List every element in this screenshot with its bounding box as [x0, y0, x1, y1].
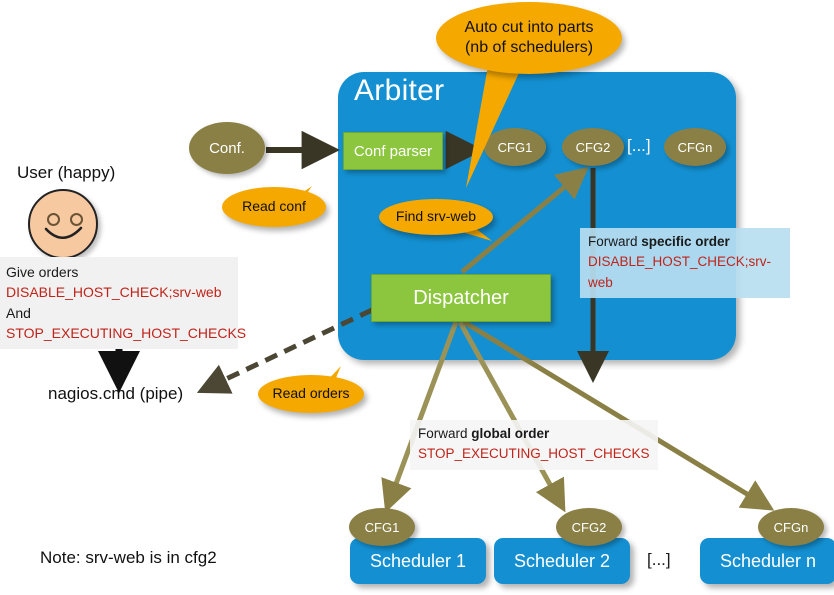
orders-conjunction: And: [6, 303, 232, 323]
callout-read-orders-line1: Read orders: [272, 385, 349, 402]
forward-global-prefix: Forward: [418, 426, 471, 441]
footer-note: Note: srv-web is in cfg2: [40, 548, 217, 568]
forward-global-command: STOP_EXECUTING_HOST_CHECKS: [418, 444, 650, 464]
cfg2-top-ellipse[interactable]: CFG2: [562, 128, 624, 166]
order-command-2: STOP_EXECUTING_HOST_CHECKS: [6, 323, 232, 343]
forward-global-emphasis: global order: [471, 426, 549, 441]
order-command-1: DISABLE_HOST_CHECK;srv-web: [6, 282, 232, 302]
orders-title: Give orders: [6, 262, 232, 282]
user-caption: User (happy): [17, 163, 115, 183]
nagios-cmd-pipe-label: nagios.cmd (pipe): [48, 384, 183, 404]
callout-read-conf: Read conf: [222, 187, 326, 227]
diagram-canvas: Arbiter: [0, 0, 834, 595]
callout-find-srv-web-line1: Find srv-web: [396, 208, 476, 225]
cfg1-scheduler-ellipse[interactable]: CFG1: [349, 508, 415, 546]
smile-icon: [28, 189, 98, 259]
callout-auto-cut-line1: Auto cut into parts: [465, 18, 594, 38]
scheduler-2-box[interactable]: Scheduler 2: [494, 538, 630, 584]
forward-global-heading: Forward global order: [418, 424, 650, 444]
forward-specific-heading: Forward specific order: [588, 232, 782, 252]
callout-auto-cut-line2: (nb of schedulers): [465, 38, 593, 58]
forward-specific-order-note: Forward specific order DISABLE_HOST_CHEC…: [580, 228, 790, 298]
config-ellipsis-label: [...]: [627, 136, 651, 156]
callout-read-orders: Read orders: [258, 375, 364, 413]
callout-read-conf-line1: Read conf: [242, 198, 306, 215]
scheduler-n-box[interactable]: Scheduler n: [700, 538, 834, 584]
forward-specific-emphasis: specific order: [641, 234, 730, 249]
conf-parser-box[interactable]: Conf parser: [343, 132, 443, 170]
cfgn-scheduler-ellipse[interactable]: CFGn: [758, 508, 824, 546]
arbiter-title: Arbiter: [354, 74, 444, 108]
cfgn-top-ellipse[interactable]: CFGn: [664, 128, 726, 166]
callout-find-srv-web: Find srv-web: [379, 199, 493, 235]
conf-source-ellipse[interactable]: Conf.: [189, 122, 265, 174]
scheduler-ellipsis-label: [...]: [647, 550, 671, 570]
user-smiley-face-icon: [28, 189, 98, 259]
forward-specific-command: DISABLE_HOST_CHECK;srv-web: [588, 252, 782, 293]
cfg2-scheduler-ellipse[interactable]: CFG2: [556, 508, 622, 546]
callout-auto-cut: Auto cut into parts (nb of schedulers): [436, 2, 622, 74]
forward-global-order-note: Forward global order STOP_EXECUTING_HOST…: [410, 420, 658, 470]
dispatcher-box[interactable]: Dispatcher: [371, 274, 551, 322]
forward-specific-prefix: Forward: [588, 234, 641, 249]
user-orders-note: Give orders DISABLE_HOST_CHECK;srv-web A…: [0, 257, 238, 349]
cfg1-top-ellipse[interactable]: CFG1: [484, 128, 546, 166]
